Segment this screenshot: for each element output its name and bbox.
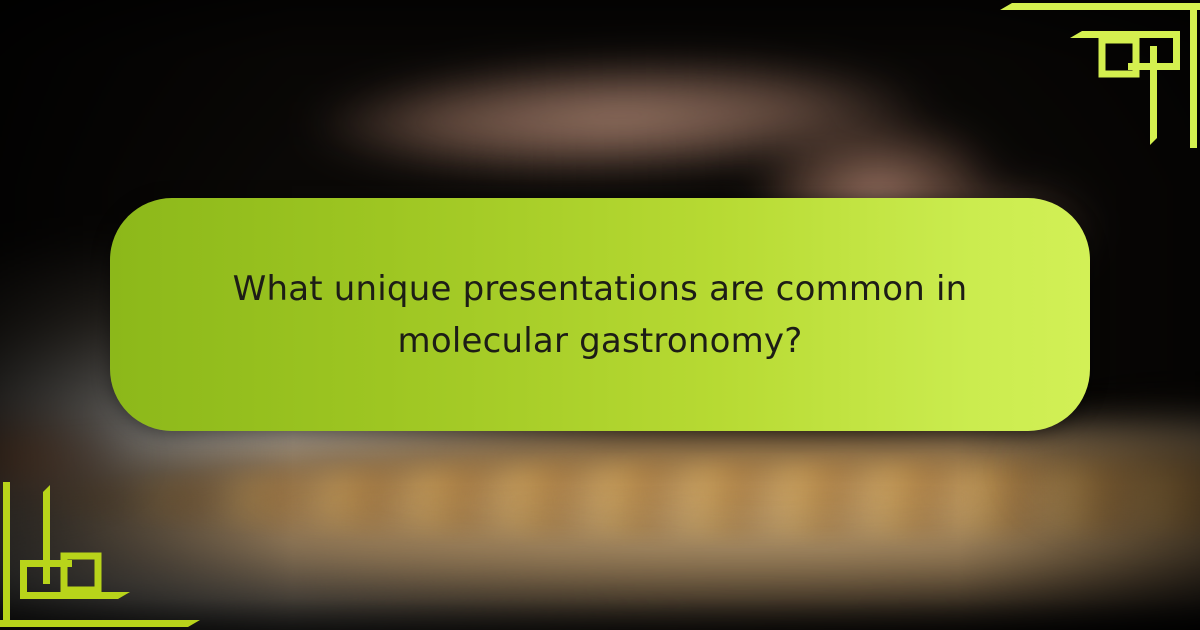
question-text: What unique presentations are common in … — [220, 263, 980, 367]
poster-canvas: What unique presentations are common in … — [0, 0, 1200, 630]
question-card: What unique presentations are common in … — [110, 198, 1090, 431]
